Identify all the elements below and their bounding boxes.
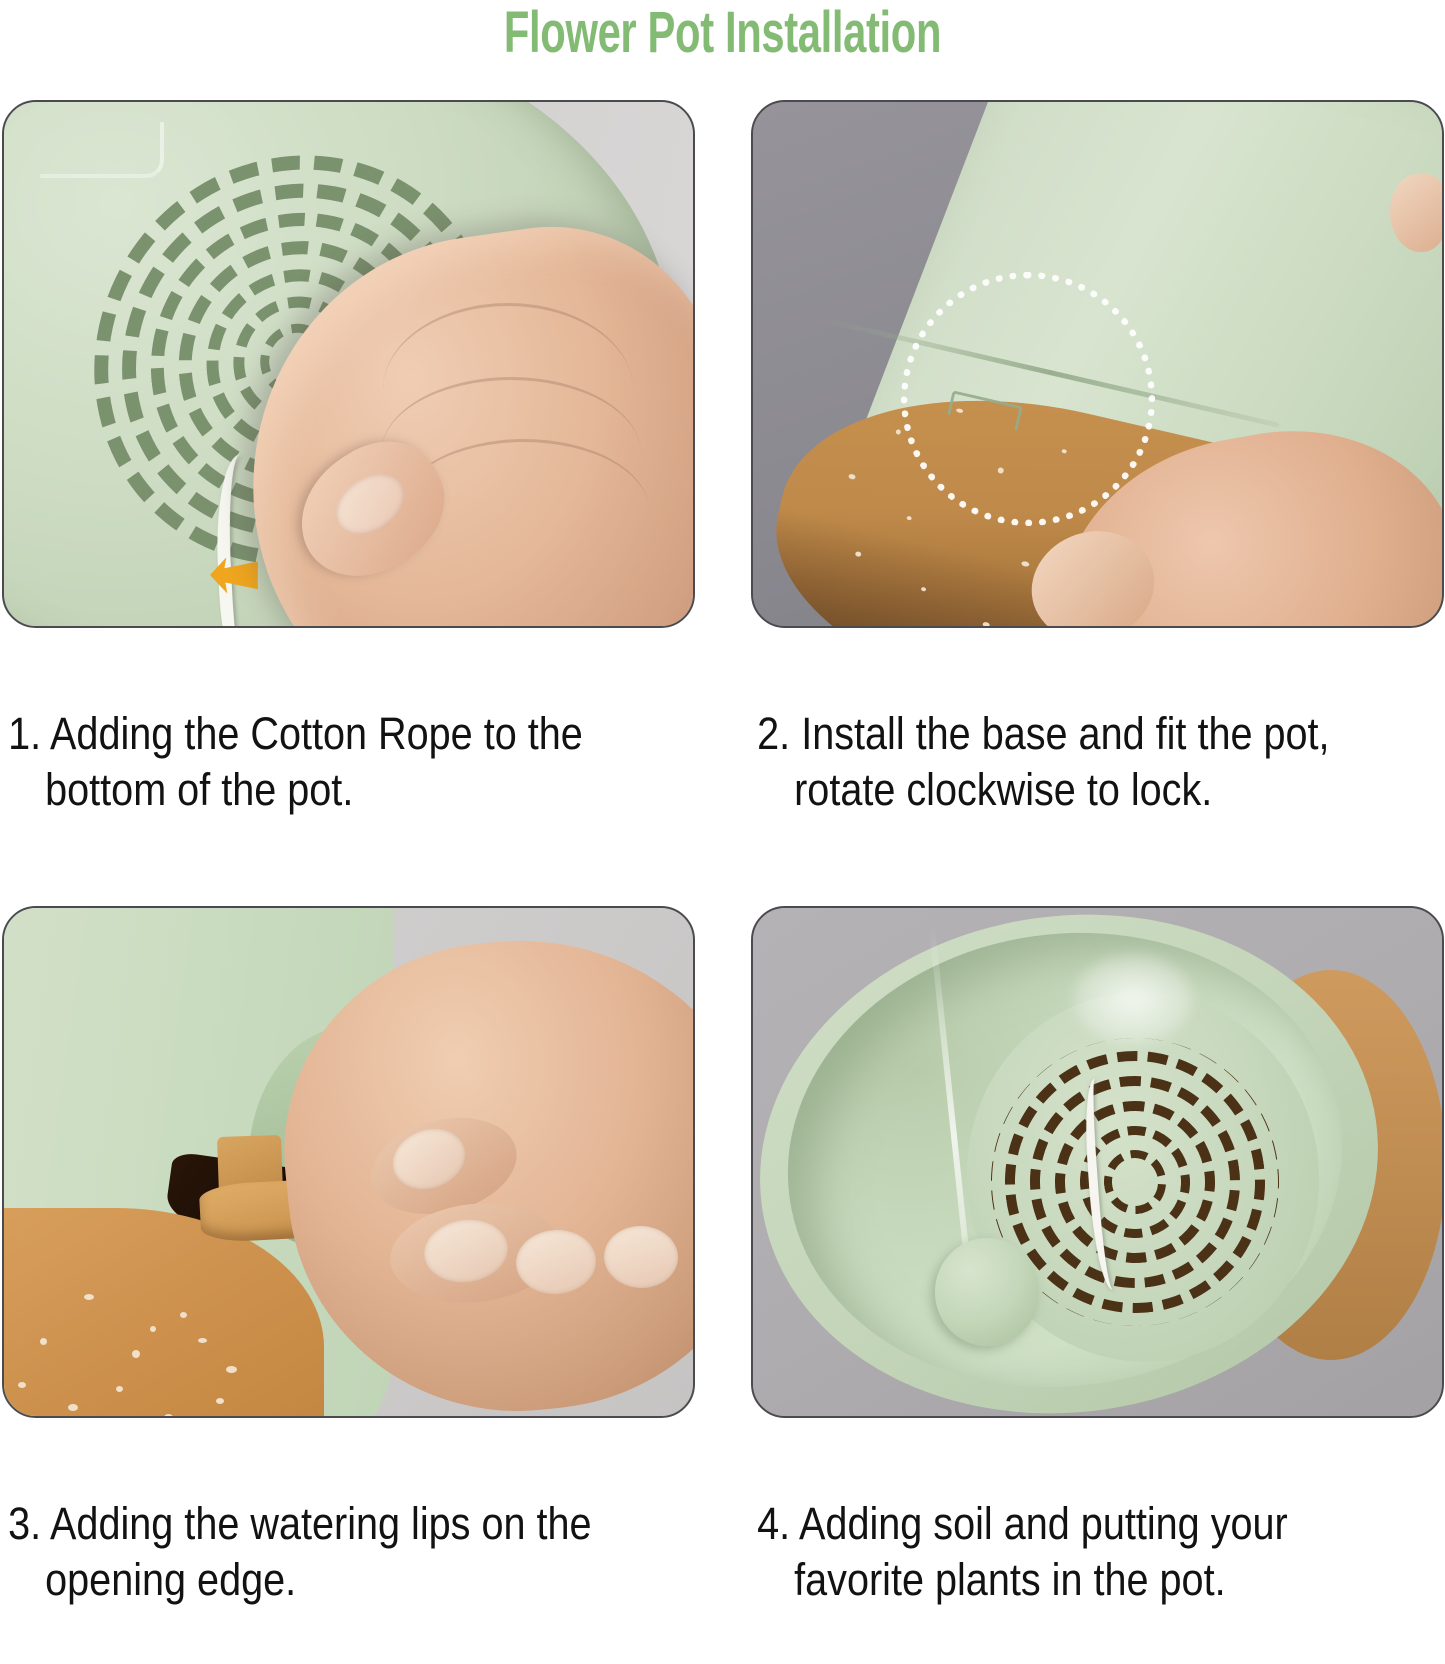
step-1: 1. Adding the Cotton Rope to the bottom … bbox=[2, 100, 696, 874]
step-2-caption-line-1: 2. Install the base and fit the pot, bbox=[757, 708, 1329, 759]
pot-interior-knob bbox=[935, 1238, 1039, 1346]
steps-row-top: 1. Adding the Cotton Rope to the bottom … bbox=[0, 100, 1445, 874]
step-4-caption-line-2: favorite plants in the pot. bbox=[757, 1552, 1362, 1608]
step-1-photo bbox=[2, 100, 695, 628]
highlight-glare bbox=[1073, 954, 1193, 1044]
step-4: 4. Adding soil and putting your favorite… bbox=[751, 906, 1445, 1664]
step-2: 2. Install the base and fit the pot, rot… bbox=[751, 100, 1445, 874]
dotted-circle-highlight bbox=[901, 272, 1155, 526]
step-1-caption: 1. Adding the Cotton Rope to the bottom … bbox=[2, 650, 613, 874]
step-3-caption-line-2: opening edge. bbox=[8, 1552, 613, 1608]
fingernail bbox=[1390, 174, 1444, 252]
pot-rim-notch bbox=[40, 122, 164, 178]
step-3-photo bbox=[2, 906, 695, 1418]
step-1-caption-line-2: bottom of the pot. bbox=[8, 762, 613, 818]
step-4-caption: 4. Adding soil and putting your favorite… bbox=[751, 1440, 1362, 1664]
page-title: Flower Pot Installation bbox=[202, 0, 1242, 66]
step-3-caption: 3. Adding the watering lips on the openi… bbox=[2, 1440, 613, 1664]
step-1-caption-line-1: 1. Adding the Cotton Rope to the bbox=[8, 708, 583, 759]
step-2-caption-line-2: rotate clockwise to lock. bbox=[757, 762, 1362, 818]
step-2-photo bbox=[751, 100, 1444, 628]
step-4-caption-line-1: 4. Adding soil and putting your bbox=[757, 1498, 1288, 1549]
steps-grid: 1. Adding the Cotton Rope to the bottom … bbox=[0, 100, 1445, 1664]
step-3: 3. Adding the watering lips on the openi… bbox=[2, 906, 696, 1664]
step-3-caption-line-1: 3. Adding the watering lips on the bbox=[8, 1498, 591, 1549]
step-2-caption: 2. Install the base and fit the pot, rot… bbox=[751, 650, 1362, 874]
step-4-photo bbox=[751, 906, 1444, 1418]
steps-row-bottom: 3. Adding the watering lips on the openi… bbox=[0, 906, 1445, 1664]
